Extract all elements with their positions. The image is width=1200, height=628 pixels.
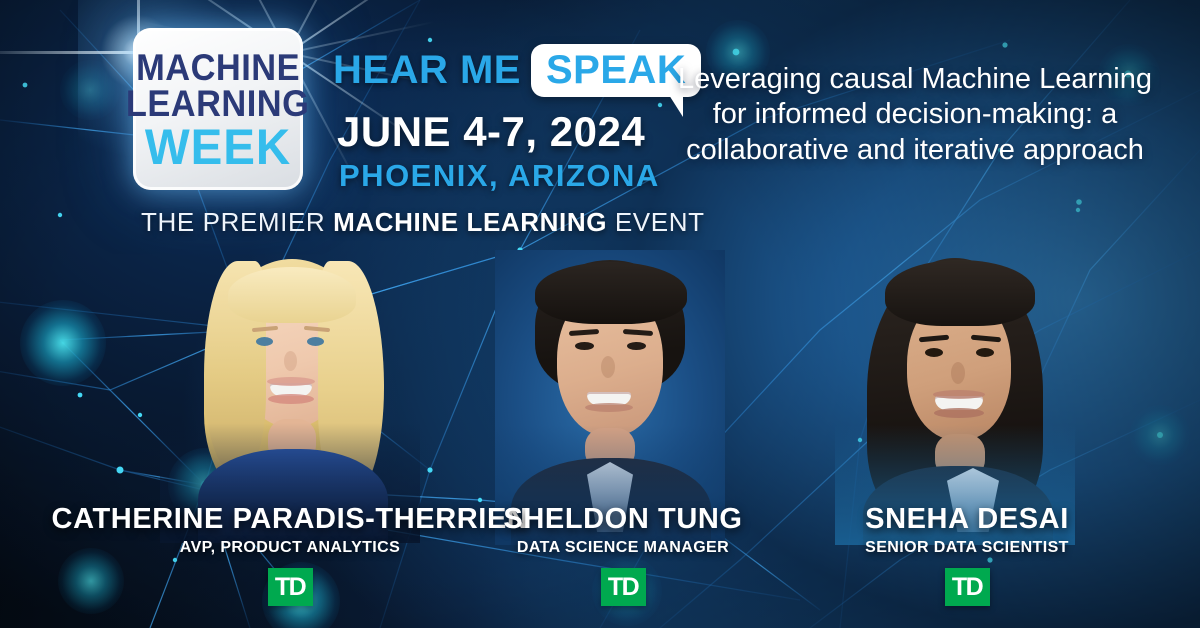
- hear-me-text: HEAR ME: [333, 48, 521, 93]
- tagline-post: EVENT: [607, 207, 705, 237]
- td-logo: TD: [945, 568, 990, 606]
- td-logo-text: TD: [608, 575, 638, 600]
- tagline-pre: THE PREMIER: [141, 207, 333, 237]
- speaker-role: SENIOR DATA SCIENTIST: [822, 539, 1112, 557]
- td-logo: TD: [268, 568, 313, 606]
- speaker-photo-2: [495, 250, 725, 545]
- speaker-block-1: CATHERINE PARADIS-THERRIEN AVP, PRODUCT …: [30, 503, 550, 606]
- tagline-bold: MACHINE LEARNING: [333, 207, 607, 237]
- talk-title: Leveraging causal Machine Learning for i…: [665, 62, 1165, 168]
- logo-line-1: MACHINE: [136, 50, 300, 86]
- td-logo: TD: [601, 568, 646, 606]
- speaker-role: AVP, PRODUCT ANALYTICS: [30, 539, 550, 557]
- td-logo-text: TD: [275, 575, 305, 600]
- hear-me-speak-lockup: HEAR ME SPEAK: [333, 44, 701, 97]
- event-dates: JUNE 4-7, 2024: [337, 108, 645, 156]
- logo-line-2: LEARNING: [126, 86, 309, 122]
- speaker-name: SNEHA DESAI: [822, 503, 1112, 536]
- promo-banner: MACHINE LEARNING WEEK HEAR ME SPEAK JUNE…: [0, 0, 1200, 628]
- machine-learning-week-logo: MACHINE LEARNING WEEK: [133, 28, 303, 190]
- speaker-photo-1: [160, 243, 420, 543]
- speaker-block-3: SNEHA DESAI SENIOR DATA SCIENTIST TD: [822, 503, 1112, 606]
- td-logo-text: TD: [952, 575, 982, 600]
- event-location: PHOENIX, ARIZONA: [339, 158, 660, 194]
- speaker-name: SHELDON TUNG: [478, 503, 768, 536]
- logo-line-3: WEEK: [145, 122, 291, 172]
- speaker-photo-3: [835, 250, 1075, 545]
- speaker-name: CATHERINE PARADIS-THERRIEN: [30, 503, 550, 536]
- speaker-role: DATA SCIENCE MANAGER: [478, 539, 768, 557]
- speaker-block-2: SHELDON TUNG DATA SCIENCE MANAGER TD: [478, 503, 768, 606]
- event-tagline: THE PREMIER MACHINE LEARNING EVENT: [141, 207, 705, 238]
